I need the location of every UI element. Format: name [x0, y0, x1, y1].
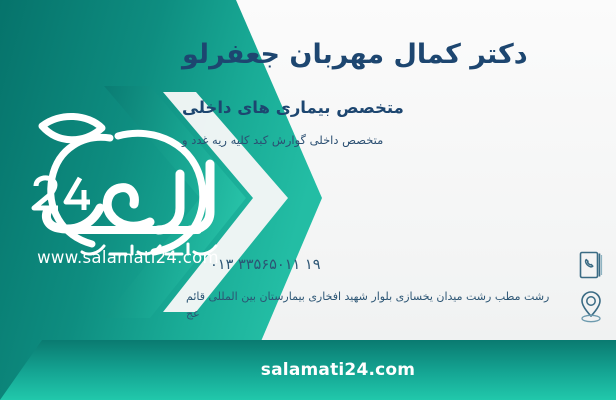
logo-website-url[interactable]: www.salamati24.com	[18, 248, 238, 267]
phone-book-icon	[576, 248, 606, 282]
business-card: www.salamati24.com دکتر کمال مهربان جعفر…	[0, 0, 616, 400]
doctor-specialty: متخصص بیماری های داخلی	[182, 98, 602, 117]
doctor-name: دکتر کمال مهربان جعفرلو	[182, 38, 602, 72]
phone-number: ۱۹ ۳۳۵۶۵۰۱۱ ۰۱۳	[206, 257, 564, 273]
address-text: رشت مطب رشت میدان یخسازی بلوار شهید افخا…	[186, 288, 564, 322]
phone-row[interactable]: ۱۹ ۳۳۵۶۵۰۱۱ ۰۱۳	[206, 248, 606, 282]
address-row[interactable]: رشت مطب رشت میدان یخسازی بلوار شهید افخا…	[186, 288, 606, 324]
footer-bar	[0, 340, 616, 400]
map-pin-icon	[576, 290, 606, 324]
doctor-description: متخصص داخلی گوارش کبد کلیه ریه غدد و	[182, 133, 602, 147]
